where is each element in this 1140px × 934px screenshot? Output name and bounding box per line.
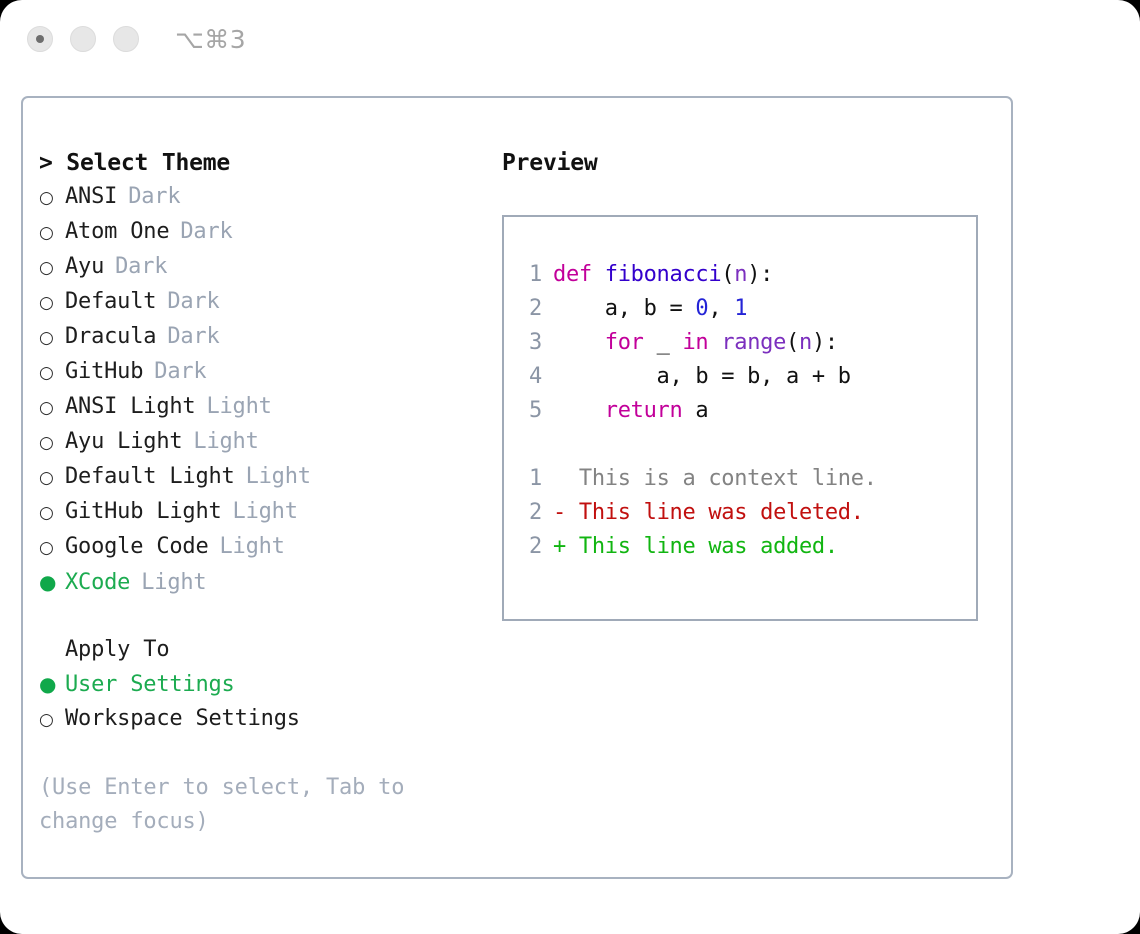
theme-option-default-light[interactable]: ○Default LightLight (39, 460, 479, 495)
radio-selected-icon: ● (39, 667, 65, 701)
code-token-pl: ( (721, 262, 734, 287)
code-token-pl: ): (747, 262, 773, 287)
diff-line-number: 2 (522, 496, 542, 530)
theme-option-label: XCode (65, 566, 130, 600)
app-window: ⌥⌘3 > Select Theme ○ANSIDark○Atom OneDar… (0, 0, 1140, 934)
radio-unselected-icon: ○ (39, 216, 65, 250)
theme-option-label: Ayu (65, 250, 104, 284)
apply-to-option-label: Workspace Settings (65, 702, 300, 736)
theme-option-label: ANSI (65, 180, 117, 214)
preview-box: 1def fibonacci(n):2 a, b = 0, 13 for _ i… (502, 215, 978, 621)
close-light[interactable] (27, 26, 53, 52)
theme-option-kind: Dark (156, 320, 219, 354)
radio-unselected-icon: ○ (39, 356, 65, 390)
keyboard-hint-text: (Use Enter to select, Tab to change focu… (39, 771, 444, 839)
theme-option-kind: Dark (169, 215, 232, 249)
theme-option-kind: Light (235, 460, 311, 494)
code-line: 3 for _ in range(n): (522, 326, 877, 360)
apply-to-option-label: User Settings (65, 668, 235, 702)
theme-option-github[interactable]: ○GitHubDark (39, 355, 479, 390)
theme-option-label: GitHub Light (65, 495, 222, 529)
code-token-var: n (734, 262, 747, 287)
theme-option-google-code[interactable]: ○Google CodeLight (39, 530, 479, 565)
theme-option-kind: Light (195, 390, 271, 424)
theme-option-kind: Dark (156, 285, 219, 319)
theme-option-ayu-light[interactable]: ○Ayu LightLight (39, 425, 479, 460)
prompt-caret: > (39, 150, 66, 176)
code-token-pl: ): (812, 330, 838, 355)
theme-option-dracula[interactable]: ○DraculaDark (39, 320, 479, 355)
theme-option-kind: Dark (104, 250, 167, 284)
diff-marker: + (553, 534, 566, 559)
code-token-num: 1 (734, 296, 747, 321)
apply-to-option-workspace-settings[interactable]: ○Workspace Settings (39, 702, 479, 737)
code-token-pl: _ (644, 330, 683, 355)
radio-unselected-icon: ○ (39, 321, 65, 355)
code-line: 1def fibonacci(n): (522, 258, 877, 292)
radio-unselected-icon: ○ (39, 251, 65, 285)
radio-unselected-icon: ○ (39, 703, 65, 737)
code-token-pl: , (708, 296, 734, 321)
radio-unselected-icon: ○ (39, 286, 65, 320)
theme-option-kind: Light (209, 530, 285, 564)
code-token-pl: a, b = (553, 296, 695, 321)
spacer-before-hint (39, 737, 479, 771)
code-line: 4 a, b = b, a + b (522, 360, 877, 394)
radio-unselected-icon: ○ (39, 461, 65, 495)
diff-marker (553, 466, 566, 491)
theme-picker-card: > Select Theme ○ANSIDark○Atom OneDark○Ay… (21, 96, 1013, 879)
code-line-number: 1 (522, 258, 542, 292)
diff-line-del: 2- This line was deleted. (522, 496, 877, 530)
theme-option-ansi[interactable]: ○ANSIDark (39, 180, 479, 215)
code-token-pl (553, 398, 605, 423)
code-token-num: 0 (695, 296, 708, 321)
diff-line-ctx: 1 This is a context line. (522, 462, 877, 496)
select-theme-heading: > Select Theme (39, 146, 479, 180)
code-token-kw: def (553, 262, 605, 287)
theme-option-ansi-light[interactable]: ○ANSI LightLight (39, 390, 479, 425)
diff-marker: - (553, 500, 566, 525)
theme-option-default[interactable]: ○DefaultDark (39, 285, 479, 320)
theme-option-label: GitHub (65, 355, 143, 389)
radio-unselected-icon: ○ (39, 531, 65, 565)
radio-unselected-icon: ○ (39, 181, 65, 215)
theme-option-xcode[interactable]: ●XCodeLight (39, 565, 479, 600)
theme-option-kind: Light (130, 566, 206, 600)
code-token-call: range (721, 330, 786, 355)
keyboard-shortcut-label: ⌥⌘3 (175, 25, 246, 54)
theme-option-label: ANSI Light (65, 390, 195, 424)
maximize-light[interactable] (113, 26, 139, 52)
window-titlebar: ⌥⌘3 (0, 0, 1140, 78)
theme-option-label: Atom One (65, 215, 169, 249)
theme-option-github-light[interactable]: ○GitHub LightLight (39, 495, 479, 530)
apply-to-option-user-settings[interactable]: ●User Settings (39, 667, 479, 702)
apply-to-heading: Apply To (39, 633, 479, 667)
theme-option-kind: Dark (117, 180, 180, 214)
preview-heading: Preview (502, 146, 992, 180)
theme-option-label: Google Code (65, 530, 209, 564)
code-token-fn: fibonacci (605, 262, 722, 287)
diff-line-number: 1 (522, 462, 542, 496)
close-light-pip (36, 35, 44, 43)
theme-option-label: Dracula (65, 320, 156, 354)
window-controls (27, 26, 139, 52)
minimize-light[interactable] (70, 26, 96, 52)
code-line-number: 3 (522, 326, 542, 360)
select-theme-heading-label: Select Theme (66, 150, 230, 176)
code-token-var: n (799, 330, 812, 355)
theme-option-kind: Light (182, 425, 258, 459)
theme-option-kind: Light (222, 495, 298, 529)
radio-unselected-icon: ○ (39, 426, 65, 460)
diff-line-number: 2 (522, 530, 542, 564)
theme-option-label: Ayu Light (65, 425, 182, 459)
theme-option-ayu[interactable]: ○AyuDark (39, 250, 479, 285)
code-preview: 1def fibonacci(n):2 a, b = 0, 13 for _ i… (522, 258, 877, 564)
theme-option-label: Default Light (65, 460, 235, 494)
code-token-pl: a (682, 398, 708, 423)
diff-line-add: 2+ This line was added. (522, 530, 877, 564)
code-token-pl (708, 330, 721, 355)
diff-text: This line was added. (566, 534, 838, 559)
code-token-pl: a, b = b, a + b (553, 364, 851, 389)
code-token-kw: return (605, 398, 683, 423)
diff-text: This is a context line. (566, 466, 877, 491)
theme-option-list: ○ANSIDark○Atom OneDark○AyuDark○DefaultDa… (39, 180, 479, 600)
radio-unselected-icon: ○ (39, 391, 65, 425)
theme-option-label: Default (65, 285, 156, 319)
code-line-number: 2 (522, 292, 542, 326)
theme-option-atom-one[interactable]: ○Atom OneDark (39, 215, 479, 250)
code-line-number: 4 (522, 360, 542, 394)
radio-selected-icon: ● (39, 565, 65, 599)
code-token-kw: for (605, 330, 644, 355)
code-blank-line (522, 428, 877, 462)
code-line: 2 a, b = 0, 1 (522, 292, 877, 326)
code-token-kw: in (682, 330, 708, 355)
radio-unselected-icon: ○ (39, 496, 65, 530)
theme-select-column: > Select Theme ○ANSIDark○Atom OneDark○Ay… (39, 146, 479, 839)
code-line-number: 5 (522, 394, 542, 428)
theme-option-kind: Dark (143, 355, 206, 389)
spacer-before-apply-to (39, 600, 479, 633)
code-token-pl: ( (786, 330, 799, 355)
diff-text: This line was deleted. (566, 500, 864, 525)
code-line: 5 return a (522, 394, 877, 428)
preview-column: Preview 1def fibonacci(n):2 a, b = 0, 13… (502, 146, 992, 621)
code-token-pl (553, 330, 605, 355)
apply-to-option-list: ●User Settings○Workspace Settings (39, 667, 479, 737)
